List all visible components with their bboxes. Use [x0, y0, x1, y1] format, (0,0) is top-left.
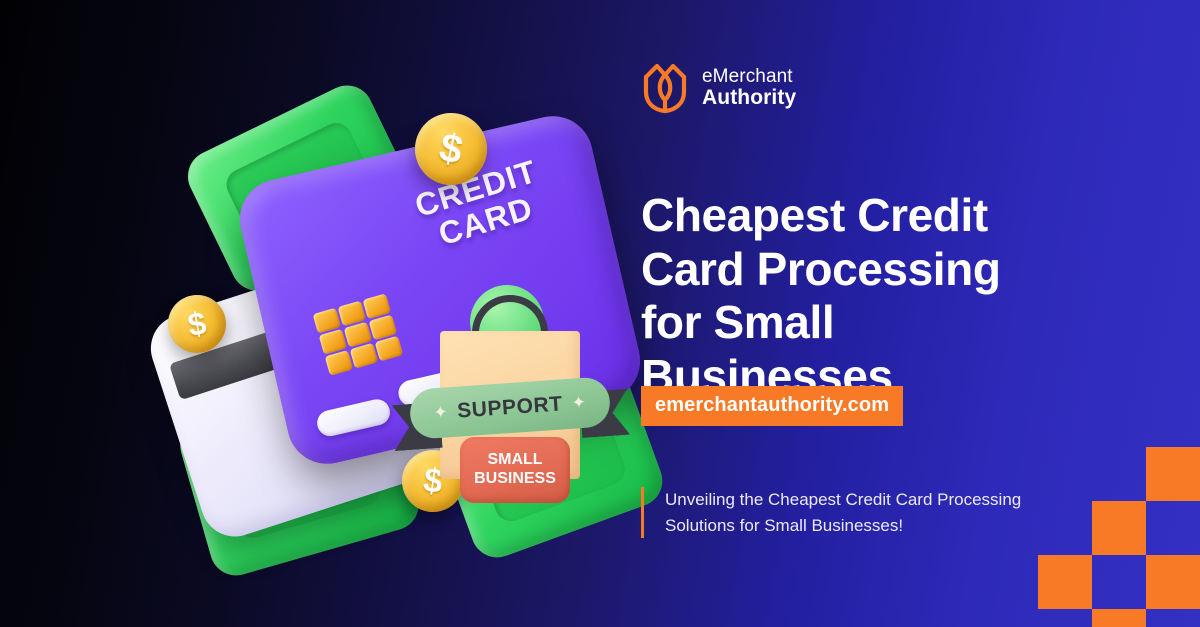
subtitle-text: Unveiling the Cheapest Credit Card Proce… [641, 487, 1071, 538]
dollar-symbol: $ [185, 304, 209, 344]
sparkle-icon: ✦ [433, 402, 449, 423]
brand-name-line2: Authority [702, 87, 796, 109]
sparkle-icon: ✦ [571, 393, 587, 414]
website-url-badge[interactable]: emerchantauthority.com [641, 386, 903, 426]
small-business-line1: SMALL [487, 451, 542, 468]
small-business-line2: BUSINESS [474, 470, 556, 487]
page-title: Cheapest Credit Card Processing for Smal… [641, 189, 1061, 404]
brand-name-line1: eMerchant [702, 67, 796, 87]
dollar-symbol: $ [435, 125, 466, 174]
content-column: eMerchant Authority Cheapest Credit Card… [641, 0, 1161, 627]
brand-logo[interactable]: eMerchant Authority [641, 62, 796, 114]
hero-illustration: $ CREDIT CARD $ $ SMAL [150, 95, 630, 565]
ribbon-label: SUPPORT [456, 392, 563, 423]
tulip-icon [641, 62, 689, 114]
shopping-bag-badge: SMALL BUSINESS ✦ SUPPORT ✦ [440, 319, 580, 479]
brand-wordmark: eMerchant Authority [702, 67, 796, 109]
promo-banner: $ CREDIT CARD $ $ SMAL [0, 0, 1200, 627]
small-business-box: SMALL BUSINESS [460, 437, 570, 503]
